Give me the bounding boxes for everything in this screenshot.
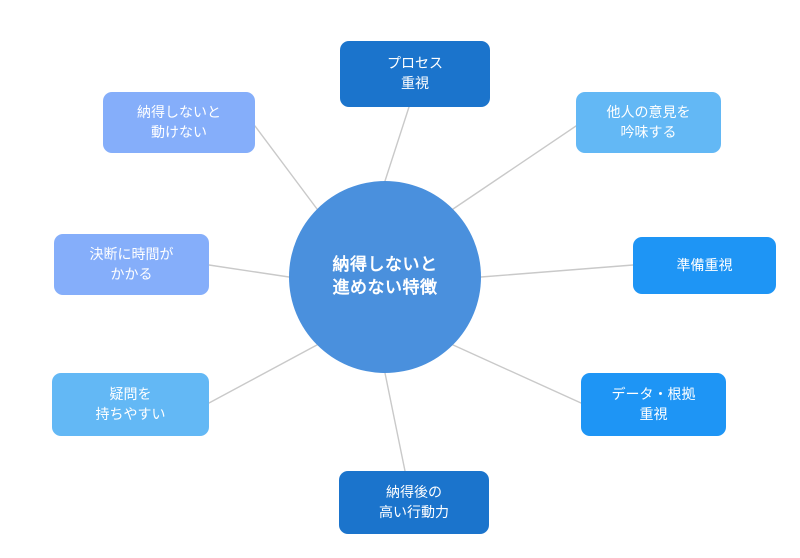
hub-node[interactable]: 納得しないと 進めない特徴: [289, 181, 481, 373]
node-label-data-evidence-focus: データ・根拠 重視: [606, 385, 702, 424]
connector-line-preparation-focus: [481, 265, 633, 277]
connector-line-process: [385, 107, 409, 181]
connector-line-cannot-move-without-conviction: [255, 126, 317, 209]
node-preparation-focus[interactable]: 準備重視: [633, 237, 776, 294]
node-data-evidence-focus[interactable]: データ・根拠 重視: [581, 373, 726, 436]
node-label-examine-others-opinions: 他人の意見を 吟味する: [601, 103, 697, 142]
node-label-preparation-focus: 準備重視: [671, 256, 739, 276]
node-prone-to-doubt[interactable]: 疑問を 持ちやすい: [52, 373, 209, 436]
node-examine-others-opinions[interactable]: 他人の意見を 吟味する: [576, 92, 721, 153]
node-cannot-move-without-conviction[interactable]: 納得しないと 動けない: [103, 92, 255, 153]
connector-line-examine-others-opinions: [453, 126, 576, 209]
node-label-slow-decisions: 決断に時間が かかる: [84, 245, 180, 284]
node-label-process: プロセス 重視: [381, 54, 449, 93]
node-label-cannot-move-without-conviction: 納得しないと 動けない: [131, 103, 227, 142]
connector-line-data-evidence-focus: [453, 345, 581, 403]
connector-line-slow-decisions: [209, 265, 289, 277]
connector-line-prone-to-doubt: [209, 345, 317, 403]
node-label-prone-to-doubt: 疑問を 持ちやすい: [90, 385, 172, 424]
node-process[interactable]: プロセス 重視: [340, 41, 490, 107]
node-slow-decisions[interactable]: 決断に時間が かかる: [54, 234, 209, 295]
node-label-high-action-after-conviction: 納得後の 高い行動力: [373, 483, 455, 522]
hub-node-label: 納得しないと 進めない特徴: [333, 254, 438, 300]
node-high-action-after-conviction[interactable]: 納得後の 高い行動力: [339, 471, 489, 534]
connector-line-high-action-after-conviction: [385, 373, 405, 471]
diagram-canvas: 納得しないと 進めない特徴 プロセス 重視他人の意見を 吟味する準備重視データ・…: [0, 0, 800, 558]
